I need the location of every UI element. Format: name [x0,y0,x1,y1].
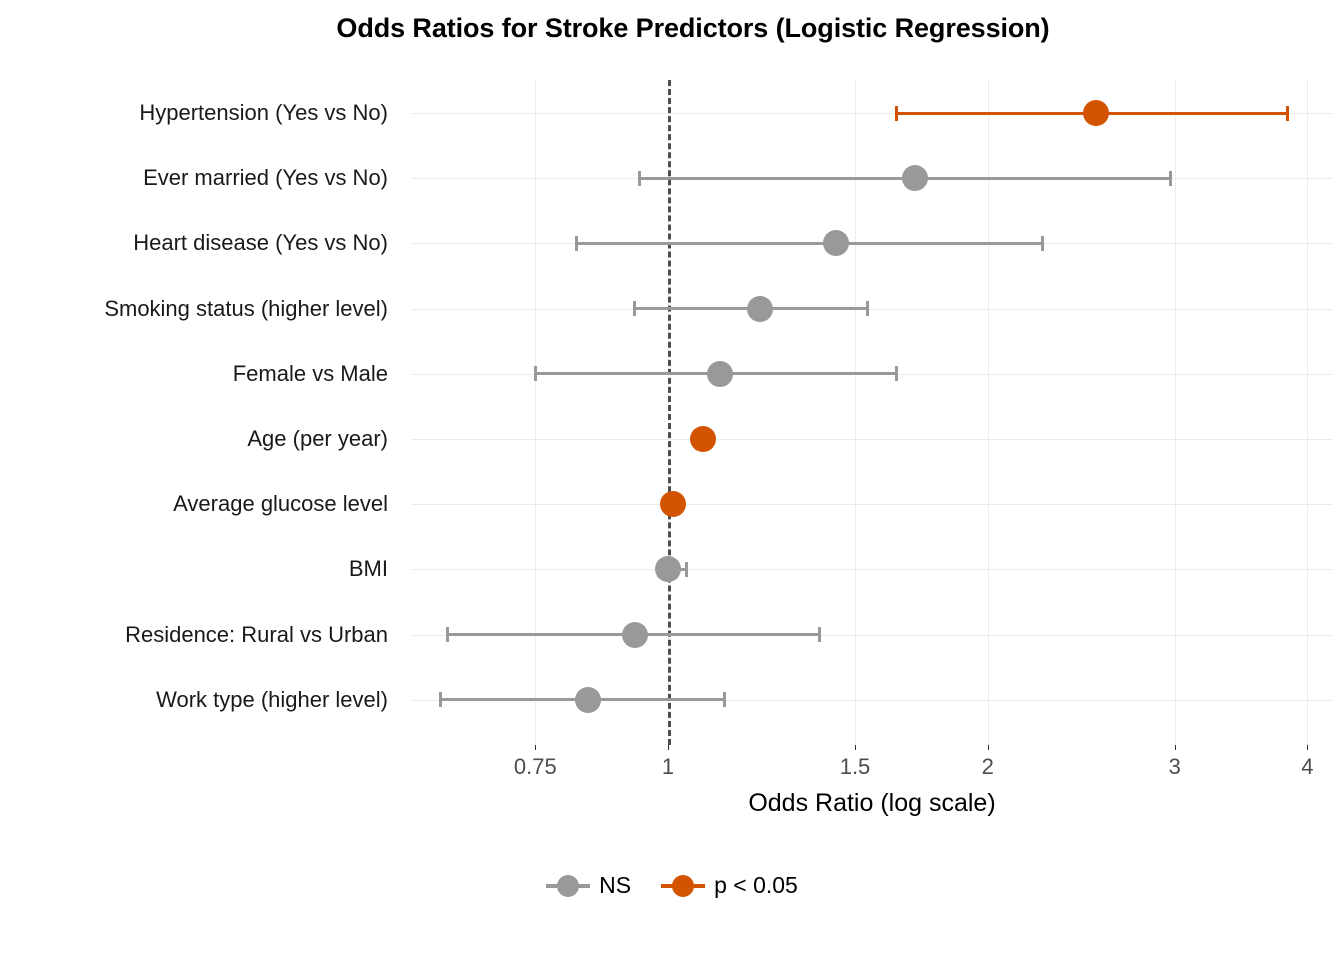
x-tick-label: 0.75 [514,754,557,780]
ci-cap-lower [633,301,636,316]
y-axis-label: Female vs Male [233,361,388,387]
y-axis-label: BMI [349,556,388,582]
x-tick-label: 3 [1169,754,1181,780]
ci-cap-lower [638,171,641,186]
x-tick-mark [855,745,856,750]
legend-item[interactable]: p < 0.05 [661,872,798,899]
ci-cap-upper [895,366,898,381]
ci-cap-upper [1286,106,1289,121]
gridline-y-6 [412,504,1332,505]
estimate-point [660,491,686,517]
y-axis-label: Heart disease (Yes vs No) [133,230,388,256]
estimate-point [622,622,648,648]
ci-cap-upper [1169,171,1172,186]
legend: NSp < 0.05 [0,872,1344,899]
estimate-point [707,361,733,387]
ci-cap-lower [534,366,537,381]
x-tick-mark [988,745,989,750]
gridline-y-7 [412,569,1332,570]
y-axis-label: Ever married (Yes vs No) [143,165,388,191]
gridline-x-2 [988,80,989,745]
legend-key-icon [661,873,705,899]
ci-cap-upper [723,692,726,707]
y-axis-label: Hypertension (Yes vs No) [139,100,388,126]
plot-panel [412,80,1332,745]
y-axis-label: Residence: Rural vs Urban [125,622,388,648]
legend-label: NS [599,872,631,899]
gridline-x-0.75 [535,80,536,745]
x-tick-mark [668,745,669,750]
legend-dot-icon [672,875,694,897]
x-tick-mark [1307,745,1308,750]
estimate-point [747,296,773,322]
gridline-y-3 [412,309,1332,310]
estimate-point [690,426,716,452]
ci-cap-lower [895,106,898,121]
forest-plot-root: Odds Ratios for Stroke Predictors (Logis… [0,0,1344,960]
estimate-point [823,230,849,256]
y-axis-label: Average glucose level [173,491,388,517]
estimate-point [575,687,601,713]
ci-cap-lower [439,692,442,707]
legend-dot-icon [557,875,579,897]
confidence-interval-line [576,242,1042,245]
ci-cap-lower [446,627,449,642]
x-tick-label: 1 [662,754,674,780]
ci-cap-upper [685,562,688,577]
y-axis-label: Work type (higher level) [156,687,388,713]
legend-label: p < 0.05 [714,872,798,899]
estimate-point [902,165,928,191]
y-axis-labels: Hypertension (Yes vs No)Ever married (Ye… [0,0,398,960]
estimate-point [1083,100,1109,126]
gridline-x-3 [1175,80,1176,745]
legend-key-icon [546,873,590,899]
gridline-y-5 [412,439,1332,440]
x-tick-label: 2 [982,754,994,780]
y-axis-label: Smoking status (higher level) [104,296,388,322]
x-tick-label: 4 [1301,754,1313,780]
x-tick-label: 1.5 [840,754,871,780]
ci-cap-upper [866,301,869,316]
x-tick-mark [535,745,536,750]
ci-cap-lower [575,236,578,251]
gridline-x-1.5 [855,80,856,745]
x-axis-title: Odds Ratio (log scale) [412,789,1332,818]
gridline-x-4 [1307,80,1308,745]
ci-cap-upper [818,627,821,642]
legend-item[interactable]: NS [546,872,631,899]
y-axis-label: Age (per year) [247,426,388,452]
ci-cap-upper [1041,236,1044,251]
estimate-point [655,556,681,582]
reference-line [668,80,671,745]
x-tick-mark [1175,745,1176,750]
